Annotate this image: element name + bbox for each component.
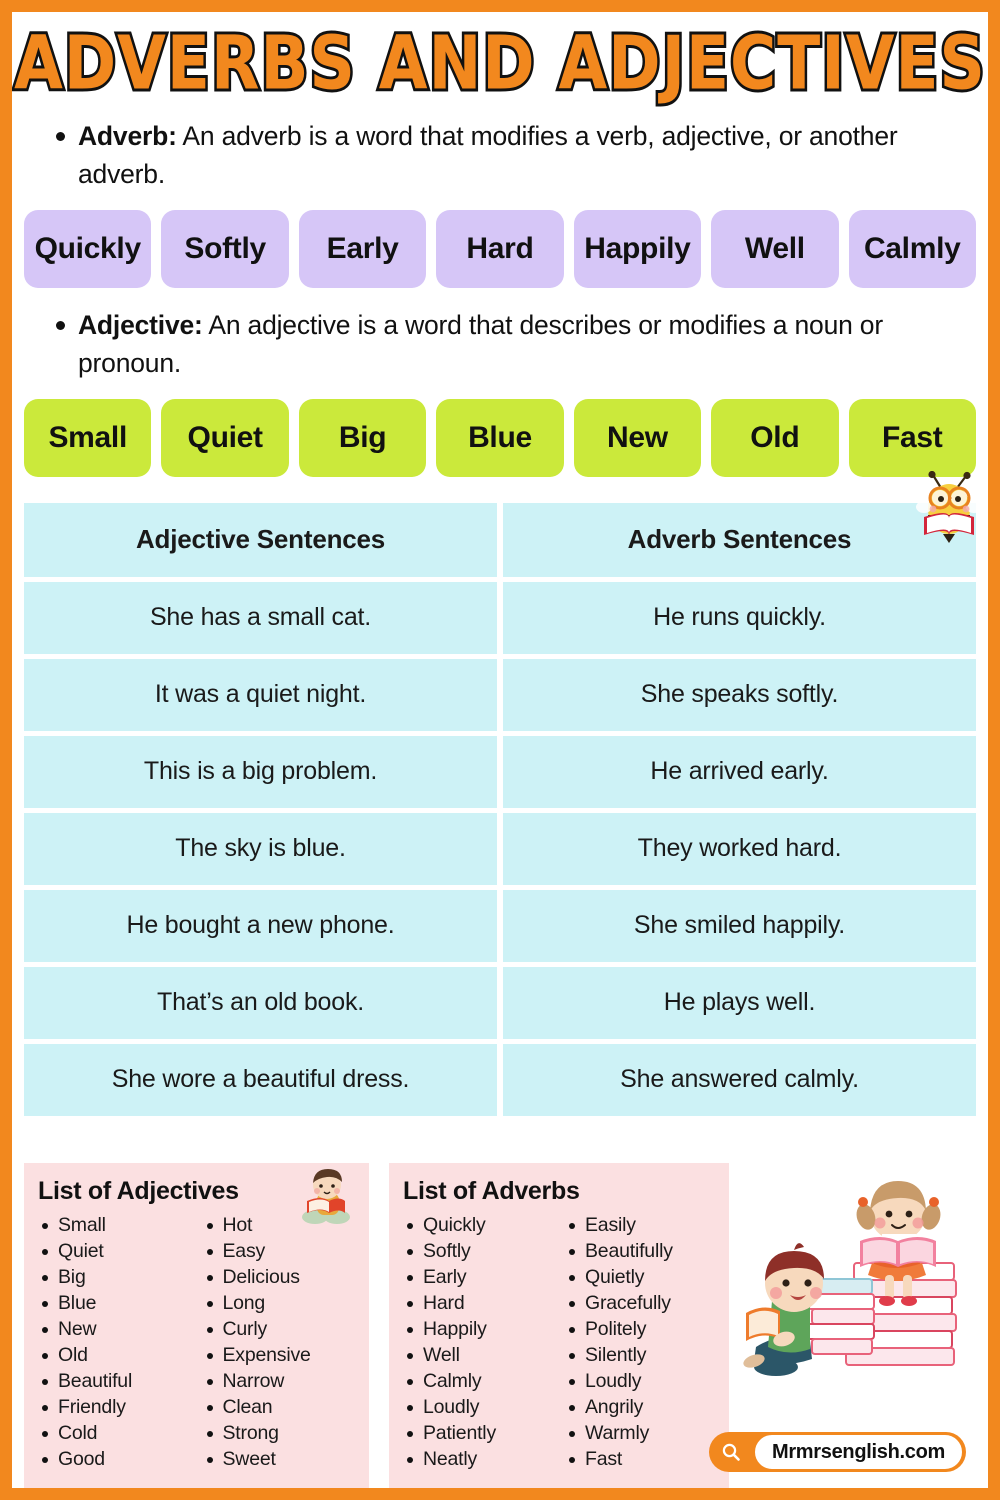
adverb-definition-body: An adverb is a word that modifies a verb… [78, 121, 898, 189]
list-item: Quietly [565, 1264, 719, 1290]
adverb-definition-lead: Adverb: [78, 121, 177, 151]
adjective-chip[interactable]: Fast [849, 399, 976, 477]
adverb-sentence-cell: He arrived early. [503, 736, 976, 808]
adjective-sentence-cell: He bought a new phone. [24, 890, 497, 962]
list-item: New [38, 1316, 195, 1342]
list-item: Blue [38, 1290, 195, 1316]
definition-item: Adverb: An adverb is a word that modifie… [56, 117, 954, 194]
adjective-chip[interactable]: New [574, 399, 701, 477]
adverb-sentence-cell: She answered calmly. [503, 1044, 976, 1116]
adjectives-column-2: Hot Easy Delicious Long Curly Expensive … [203, 1212, 360, 1472]
table-header-row: Adjective Sentences Adverb Sentences [24, 503, 976, 577]
adjectives-column-1: Small Quiet Big Blue New Old Beautiful F… [38, 1212, 195, 1472]
adjective-chip[interactable]: Blue [436, 399, 563, 477]
list-item: Hot [203, 1212, 360, 1238]
list-item: Old [38, 1342, 195, 1368]
list-item: Big [38, 1264, 195, 1290]
list-item: Delicious [203, 1264, 360, 1290]
list-item: Politely [565, 1316, 719, 1342]
definition-item: Adjective: An adjective is a word that d… [56, 306, 954, 383]
adjective-definition-block: Adjective: An adjective is a word that d… [12, 288, 988, 383]
list-item: Loudly [403, 1394, 557, 1420]
table-row: She has a small cat. He runs quickly. [24, 582, 976, 654]
adjective-sentence-cell: That’s an old book. [24, 967, 497, 1039]
list-item: Sweet [203, 1446, 360, 1472]
list-of-adjectives-panel: List of Adjectives [24, 1163, 369, 1488]
table-header-adverb: Adverb Sentences [503, 503, 976, 577]
table-row: It was a quiet night. She speaks softly. [24, 659, 976, 731]
list-item: Calmly [403, 1368, 557, 1394]
list-item: Expensive [203, 1342, 360, 1368]
list-item: Narrow [203, 1368, 360, 1394]
list-item: Friendly [38, 1394, 195, 1420]
list-item: Neatly [403, 1446, 557, 1472]
table-row: That’s an old book. He plays well. [24, 967, 976, 1039]
page-title: ADVERBS AND ADJECTIVES [14, 26, 986, 100]
list-item: Curly [203, 1316, 360, 1342]
bottom-section: List of Adjectives [24, 1163, 976, 1488]
adjectives-columns: Small Quiet Big Blue New Old Beautiful F… [38, 1212, 359, 1472]
list-item: Loudly [565, 1368, 719, 1394]
list-item: Softly [403, 1238, 557, 1264]
adjective-sentence-cell: She has a small cat. [24, 582, 497, 654]
adverb-chip[interactable]: Softly [161, 210, 288, 288]
sentences-table: Adjective Sentences Adverb Sentences She… [24, 503, 976, 1116]
adjective-chip[interactable]: Small [24, 399, 151, 477]
adverb-chip-row: Quickly Softly Early Hard Happily Well C… [12, 210, 988, 288]
adverb-definition-text: Adverb: An adverb is a word that modifie… [78, 117, 954, 194]
list-item: Warmly [565, 1420, 719, 1446]
list-item: Early [403, 1264, 557, 1290]
list-item: Quickly [403, 1212, 557, 1238]
list-of-adverbs-panel: List of Adverbs Quickly Softly Early Har… [389, 1163, 729, 1488]
list-item: Strong [203, 1420, 360, 1446]
adverb-chip[interactable]: Quickly [24, 210, 151, 288]
poster-frame: ADVERBS AND ADJECTIVES Adverb: An adverb… [0, 0, 1000, 1500]
adverb-sentence-cell: They worked hard. [503, 813, 976, 885]
list-item: Gracefully [565, 1290, 719, 1316]
list-item: Angrily [565, 1394, 719, 1420]
adverb-chip[interactable]: Happily [574, 210, 701, 288]
table-row: She wore a beautiful dress. She answered… [24, 1044, 976, 1116]
adverbs-panel-title: List of Adverbs [403, 1177, 719, 1206]
list-item: Easy [203, 1238, 360, 1264]
list-item: Cold [38, 1420, 195, 1446]
adjective-chip[interactable]: Quiet [161, 399, 288, 477]
website-url-text: Mrmrsenglish.com [753, 1433, 964, 1471]
adjective-sentence-cell: She wore a beautiful dress. [24, 1044, 497, 1116]
website-logo-badge[interactable]: Mrmrsenglish.com [709, 1432, 966, 1472]
search-icon [709, 1442, 753, 1462]
illustration-area: Mrmrsenglish.com [749, 1163, 976, 1488]
list-item: Easily [565, 1212, 719, 1238]
adverbs-columns: Quickly Softly Early Hard Happily Well C… [403, 1212, 719, 1472]
bee-icon [916, 471, 982, 543]
adjective-sentence-cell: This is a big problem. [24, 736, 497, 808]
list-item: Silently [565, 1342, 719, 1368]
list-item: Fast [565, 1446, 719, 1472]
list-item: Happily [403, 1316, 557, 1342]
list-item: Well [403, 1342, 557, 1368]
list-item: Clean [203, 1394, 360, 1420]
list-item: Small [38, 1212, 195, 1238]
adjective-chip[interactable]: Big [299, 399, 426, 477]
adverbs-column-2: Easily Beautifully Quietly Gracefully Po… [565, 1212, 719, 1472]
bullet-dot-icon [56, 132, 65, 141]
title-area: ADVERBS AND ADJECTIVES [12, 12, 988, 95]
table-row: He bought a new phone. She smiled happil… [24, 890, 976, 962]
adjective-sentence-cell: The sky is blue. [24, 813, 497, 885]
adverb-sentence-cell: He runs quickly. [503, 582, 976, 654]
adverb-chip[interactable]: Calmly [849, 210, 976, 288]
poster-sheet: ADVERBS AND ADJECTIVES Adverb: An adverb… [12, 12, 988, 1488]
bullet-dot-icon [56, 321, 65, 330]
adverbs-column-1: Quickly Softly Early Hard Happily Well C… [403, 1212, 557, 1472]
list-item: Quiet [38, 1238, 195, 1264]
table-row: The sky is blue. They worked hard. [24, 813, 976, 885]
adverb-sentence-cell: She smiled happily. [503, 890, 976, 962]
adverb-sentence-cell: He plays well. [503, 967, 976, 1039]
table-row: This is a big problem. He arrived early. [24, 736, 976, 808]
adjective-sentence-cell: It was a quiet night. [24, 659, 497, 731]
kids-reading-on-books-icon [742, 1171, 970, 1393]
list-item: Beautiful [38, 1368, 195, 1394]
adverb-chip[interactable]: Hard [436, 210, 563, 288]
adjective-chip-row: Small Quiet Big Blue New Old Fast [12, 399, 988, 477]
table-header-adjective: Adjective Sentences [24, 503, 497, 577]
list-item: Long [203, 1290, 360, 1316]
adjective-definition-lead: Adjective: [78, 310, 203, 340]
list-item: Patiently [403, 1420, 557, 1446]
adjective-chip[interactable]: Old [711, 399, 838, 477]
list-item: Beautifully [565, 1238, 719, 1264]
adverb-chip[interactable]: Early [299, 210, 426, 288]
adverb-chip[interactable]: Well [711, 210, 838, 288]
adverb-sentence-cell: She speaks softly. [503, 659, 976, 731]
list-item: Hard [403, 1290, 557, 1316]
adverb-definition-block: Adverb: An adverb is a word that modifie… [12, 95, 988, 194]
list-item: Good [38, 1446, 195, 1472]
adjective-definition-text: Adjective: An adjective is a word that d… [78, 306, 954, 383]
